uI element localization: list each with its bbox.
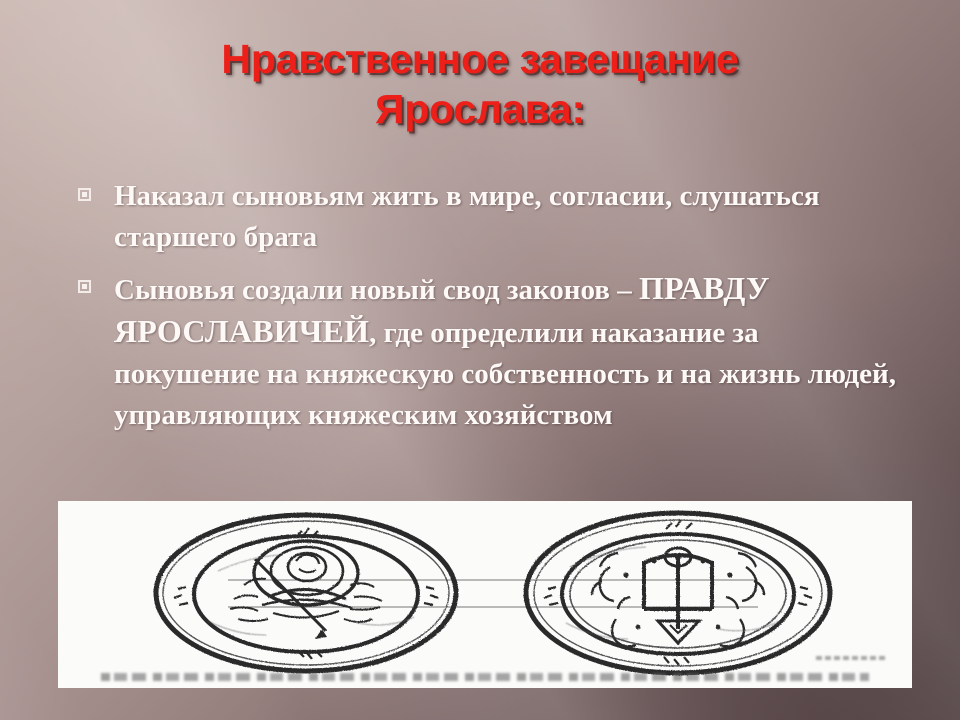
coin-illustration-caption [101,673,870,681]
bullet-item: Наказал сыновьям жить в мире, согласии, … [64,176,904,258]
bullet-item-text: Наказал сыновьям жить в мире, согласии, … [114,176,904,258]
square-bullet-icon [78,280,91,293]
square-bullet-icon [78,188,91,201]
presentation-slide: Нравственное завещание Ярослава: Наказал… [0,0,960,720]
coin-obverse-seated-figure [156,515,456,671]
bullet-item: Сыновья создали новый свод законов – ПРА… [64,268,904,436]
bullet-item-text: Сыновья создали новый свод законов – ПРА… [114,268,904,436]
coin-drawing [58,501,912,688]
slide-title: Нравственное завещание Ярослава: [60,34,900,134]
bullet-text-lead: Сыновья создали новый свод законов – [114,274,639,306]
coin-drawing-svg [58,501,912,688]
coin-reverse-trident [526,513,830,673]
coins-illustration [58,501,912,688]
slide-body: Наказал сыновьям жить в мире, согласии, … [64,176,904,446]
scan-credit-mark [816,656,886,660]
